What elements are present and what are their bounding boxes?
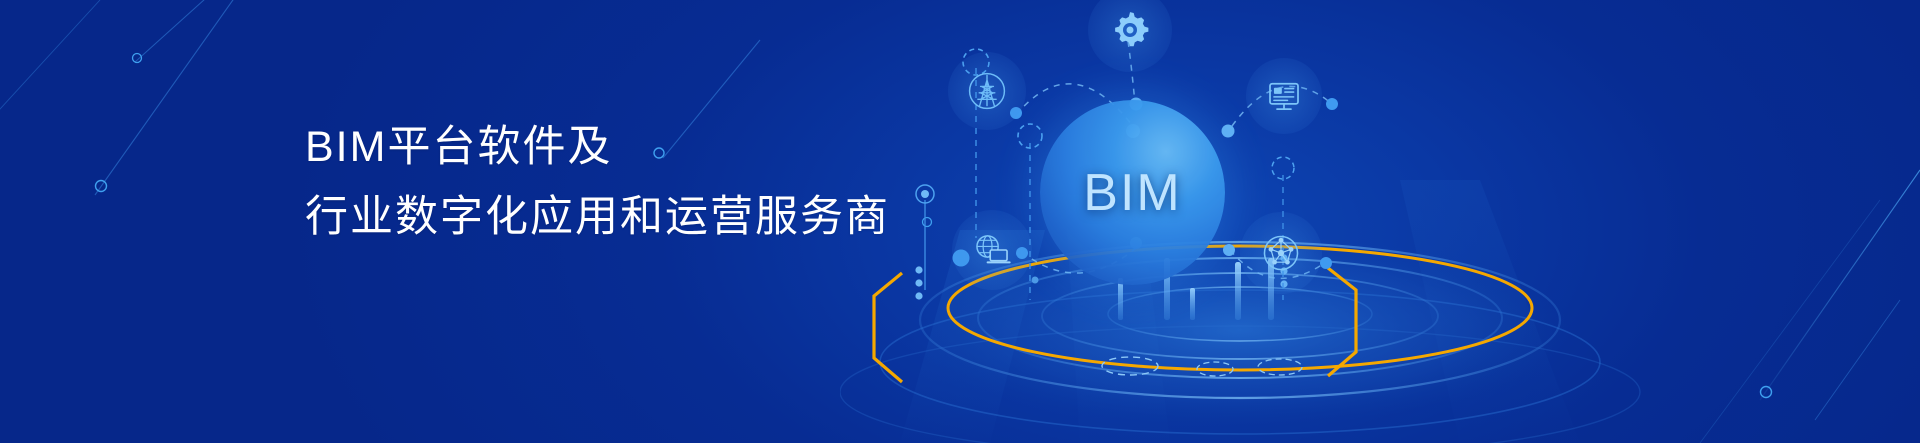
monitor-node: [1246, 58, 1322, 134]
power-tower-node: [948, 52, 1026, 130]
globe-laptop-node: [952, 210, 1032, 290]
bim-sphere-label: BIM: [1040, 100, 1225, 285]
network-nodes-icon: [1259, 231, 1303, 275]
power-tower-icon: [965, 69, 1009, 113]
hero-banner: BIM平台软件及 行业数字化应用和运营服务商: [0, 0, 1920, 443]
monitor-icon: [1263, 75, 1305, 117]
globe-laptop-icon: [969, 227, 1015, 273]
bim-illustration: BIM: [840, 0, 1920, 443]
gear-icon: [1109, 9, 1151, 51]
network-nodes-node: [1240, 212, 1322, 294]
